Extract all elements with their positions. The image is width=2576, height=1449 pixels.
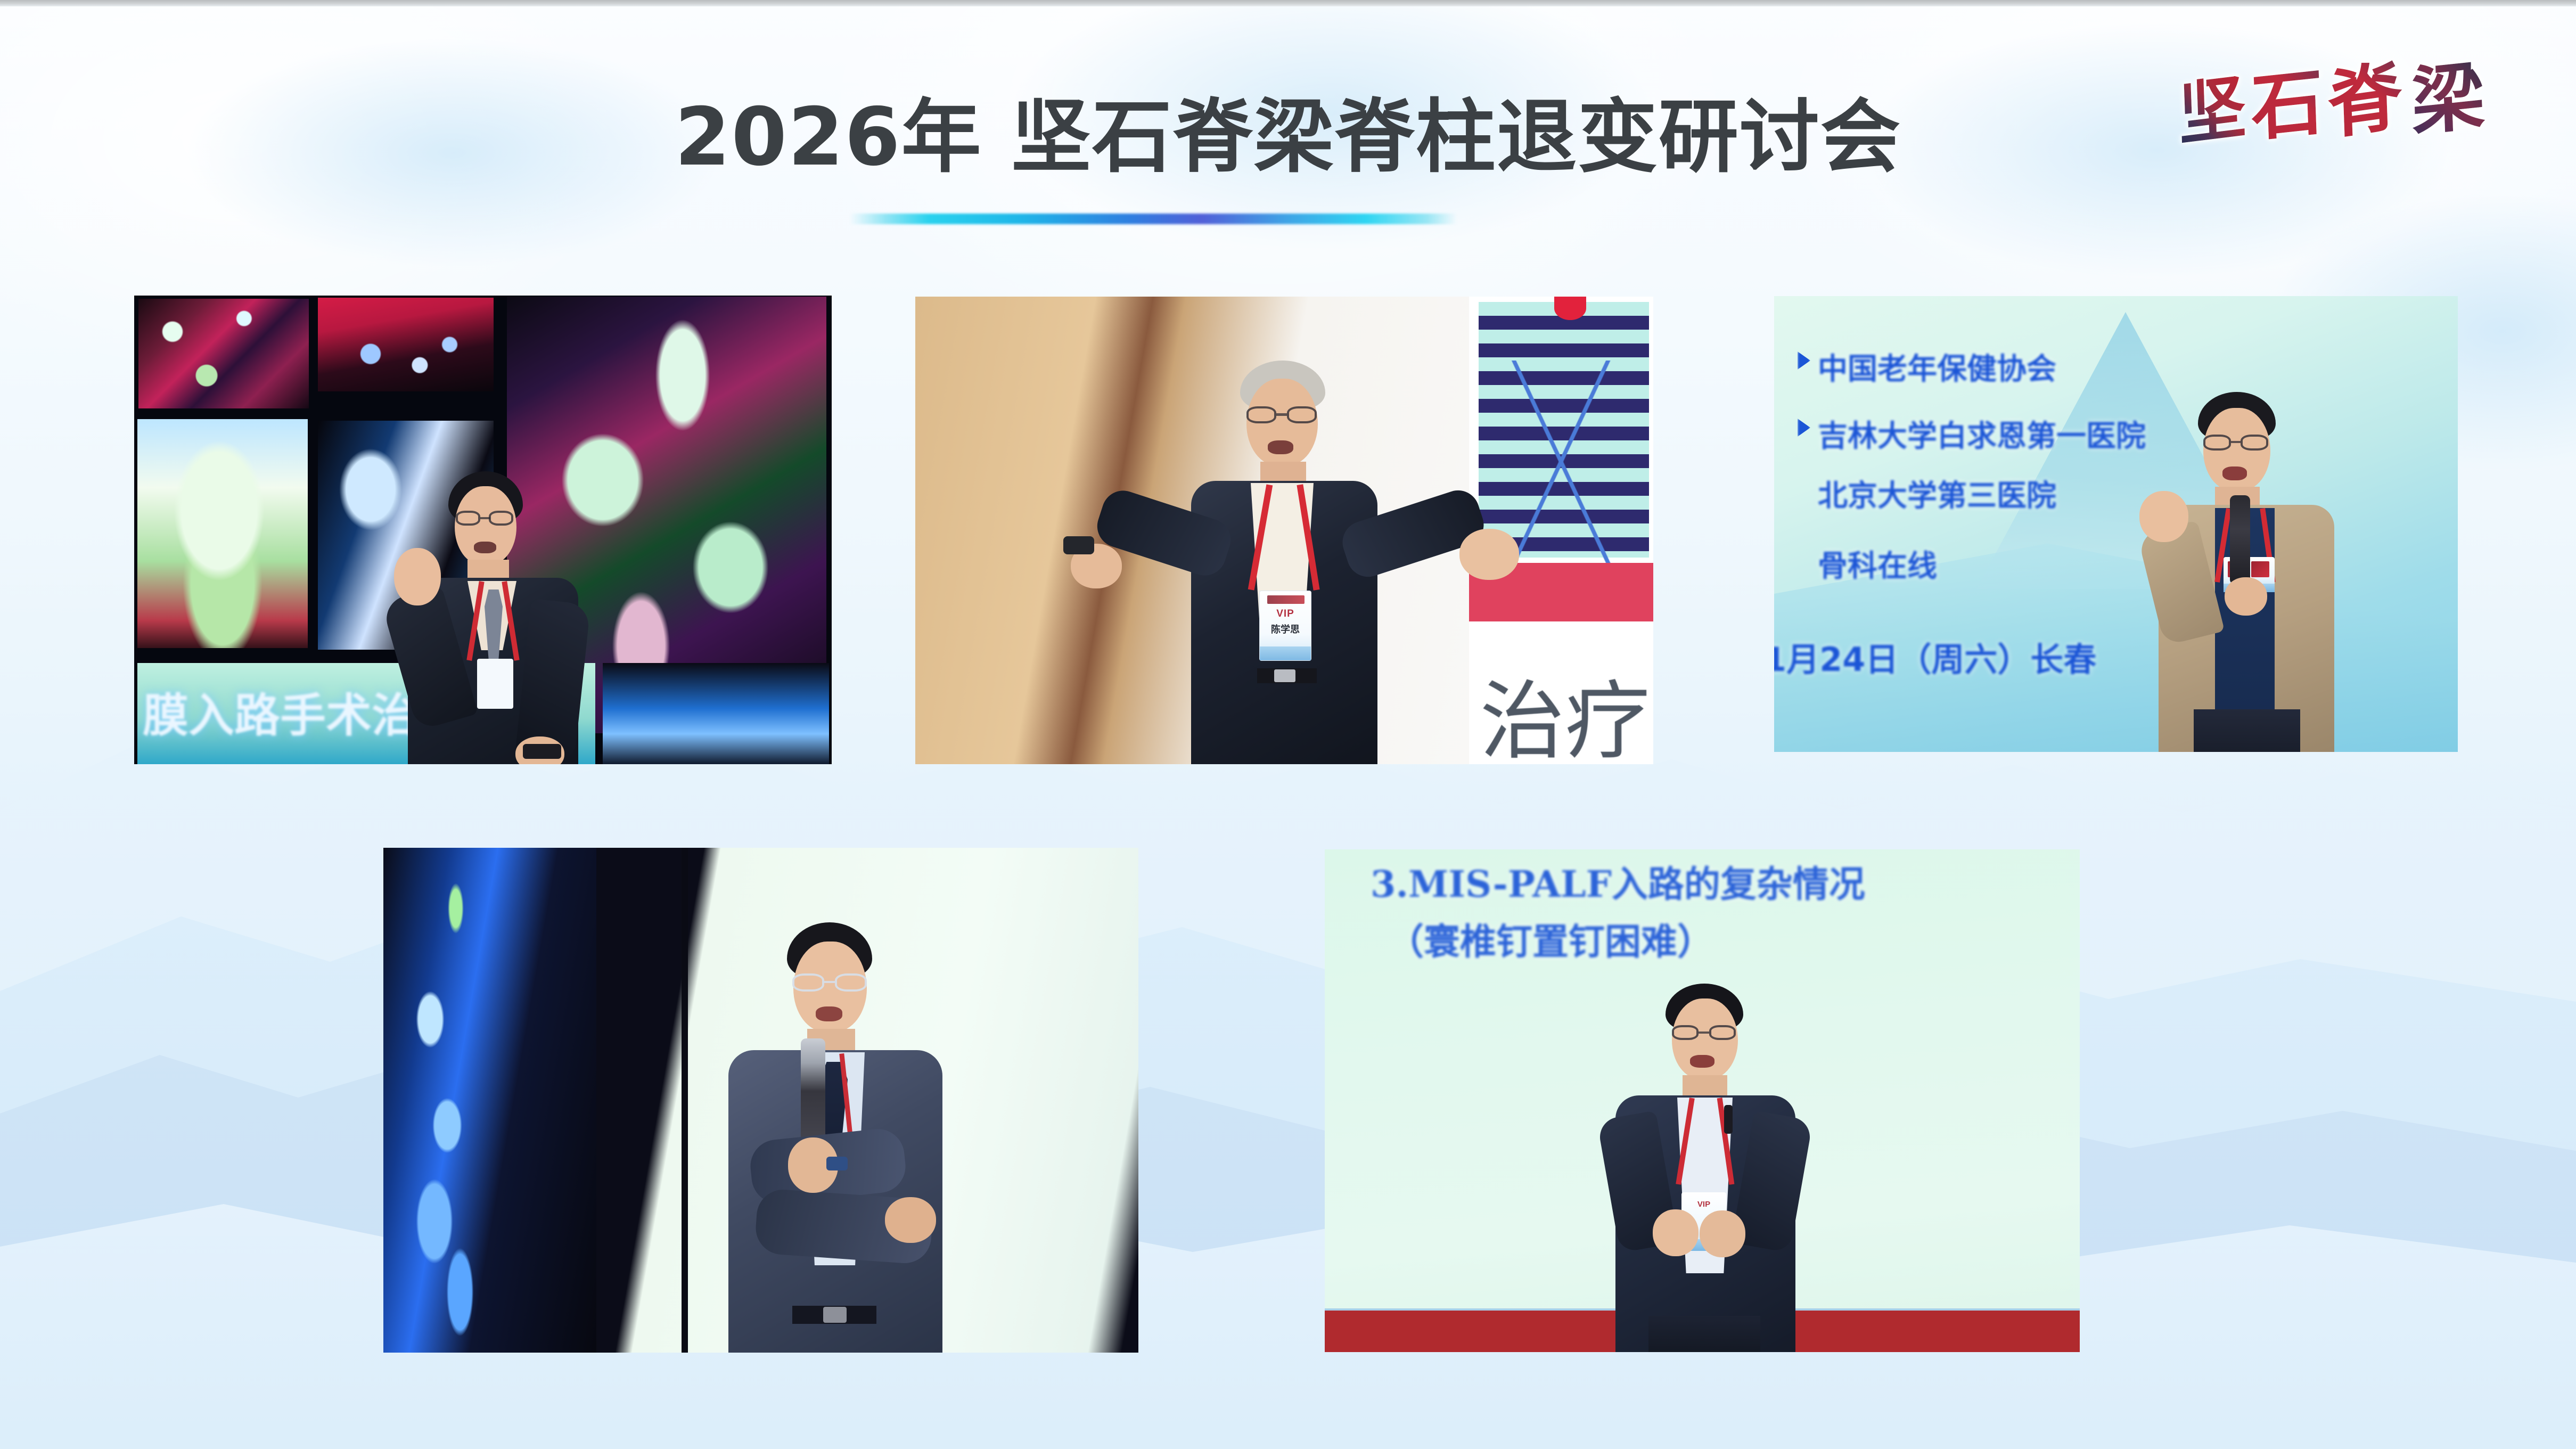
svg-text:梁: 梁: [2410, 52, 2486, 146]
wristwatch: [826, 1157, 848, 1170]
chart-line: [1501, 361, 1629, 563]
glasses-icon: [2203, 435, 2270, 452]
photo-bottom-right[interactable]: 3.MIS-PALF入路的复杂情况 （寰椎钉置钉困难） VIP: [1325, 849, 2080, 1352]
svg-text:坚: 坚: [2177, 67, 2247, 155]
speaker-figure: [2099, 392, 2397, 752]
backdrop-line-2: 吉林大学白求恩第一医院: [1818, 412, 2146, 455]
title-underline-accent: [850, 214, 1457, 224]
trousers: [2194, 709, 2300, 752]
medical-image-tile: [603, 663, 829, 764]
backdrop-line-3: 北京大学第三医院: [1818, 472, 2056, 515]
medical-image-tile: [137, 419, 308, 648]
photo-bottom-left[interactable]: [383, 848, 1138, 1353]
lapel-microphone: [1724, 1105, 1733, 1134]
medical-image-tile: [138, 299, 309, 408]
hand-open: [1459, 529, 1519, 580]
svg-text:脊: 脊: [2327, 52, 2405, 150]
spine-mri-image: [383, 848, 596, 1353]
slide-heading-line-1: 3.MIS-PALF入路的复杂情况: [1371, 855, 1865, 907]
belt-buckle: [823, 1307, 847, 1323]
medical-image-tile: [318, 298, 494, 391]
glasses-icon: [1672, 1025, 1738, 1041]
hand-holding-mic: [2225, 577, 2267, 616]
photo-top-left[interactable]: 膜入路手术治: [134, 296, 832, 764]
window-chrome-strip: [0, 0, 2576, 6]
slide-heading-line-2: （寰椎钉置钉困难）: [1388, 912, 1713, 965]
hand-gesture-left: [1653, 1209, 1699, 1256]
speaker-figure: [687, 922, 996, 1353]
speaker-figure: VIP 陈学思: [1048, 361, 1517, 764]
photo-top-right[interactable]: 中国老年保健协会 吉林大学白求恩第一医院 北京大学第三医院 骨科在线 1月24日…: [1774, 296, 2458, 752]
hand-gesture: [394, 548, 441, 605]
trousers: [1648, 1316, 1760, 1352]
svg-text:石: 石: [2250, 59, 2325, 151]
hand-resting: [885, 1197, 936, 1243]
vip-name-badge: VIP 陈学思: [1259, 591, 1311, 661]
chart-marker: [1554, 297, 1586, 320]
backdrop-line-4: 骨科在线: [1818, 542, 1937, 585]
slide-background: 2026年 坚石脊梁脊柱退变研讨会: [0, 6, 2576, 1449]
brand-logo: 坚 石 脊 梁: [2176, 31, 2516, 164]
name-badge: [477, 659, 513, 709]
hand-gesture-right: [1700, 1210, 1745, 1257]
speaker-figure: VIP: [1580, 984, 1831, 1352]
backdrop-line-1: 中国老年保健协会: [1818, 345, 2056, 388]
glasses-icon: [456, 511, 516, 527]
hand-gesture: [2139, 491, 2188, 542]
microphone: [2230, 495, 2250, 585]
backdrop-line-5: 1月24日（周六）长春: [1774, 633, 2096, 681]
badge-name: 陈学思: [1260, 622, 1311, 636]
speaker-figure: [363, 471, 619, 764]
glasses-icon: [1246, 406, 1318, 424]
photo-top-center[interactable]: 治疗 VIP 陈学思: [915, 297, 1653, 764]
glasses-icon: [792, 973, 868, 993]
